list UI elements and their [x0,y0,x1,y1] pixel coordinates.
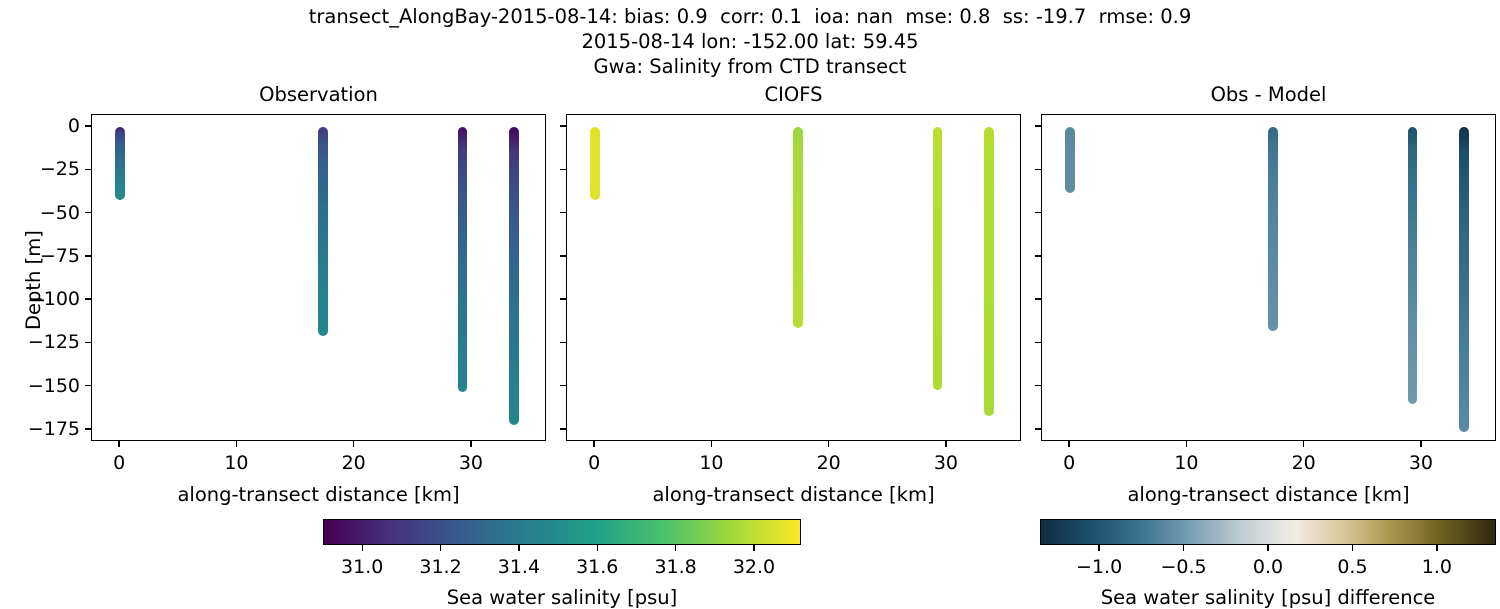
ytick-mark [1035,385,1041,386]
xtick-mark [945,441,946,447]
suptitle-line-1: transect_AlongBay-2015-08-14: bias: 0.9 … [0,4,1500,29]
xtick-label: 20 [1292,452,1316,474]
ytick-mark [85,125,91,126]
colorbar-tick-mark [1183,545,1184,551]
colorbar-tick-label: −0.5 [1160,556,1206,578]
xtick-mark [1303,441,1304,447]
ytick-mark [1035,255,1041,256]
xtick-label: 20 [342,452,366,474]
panel-observation: Observation along-transect distance [km]… [91,114,546,441]
suptitle-line-3: Gwa: Salinity from CTD transect [0,54,1500,79]
colorbar-tick-mark [440,545,441,551]
ytick-mark [85,428,91,429]
xtick-mark [470,441,471,447]
xlabel-ciofs: along-transect distance [km] [566,483,1021,506]
xtick-label: 10 [1174,452,1198,474]
colorbar-tick-label: −1.0 [1076,556,1122,578]
ytick-label: −75 [40,245,80,267]
ytick-mark [85,298,91,299]
ytick-label: −150 [28,375,80,397]
ytick-mark [85,169,91,170]
ytick-mark [560,385,566,386]
colorbar-tick-label: 31.0 [341,556,383,578]
colorbar-salinity: Sea water salinity [psu] 31.031.231.431.… [323,519,801,545]
colorbar-tick-mark [1098,545,1099,551]
ytick-mark [1035,428,1041,429]
ytick-mark [85,255,91,256]
xtick-mark [118,441,119,447]
xtick-label: 10 [699,452,723,474]
cast-profile [1268,127,1278,331]
cast-profile [590,127,600,200]
xtick-label: 20 [817,452,841,474]
axes-observation [91,114,546,441]
panel-title-ciofs: CIOFS [566,84,1021,106]
suptitle-line-2: 2015-08-14 lon: -152.00 lat: 59.45 [0,29,1500,54]
xtick-label: 30 [459,452,483,474]
cast-profile [458,127,468,392]
colorbar-tick-mark [1267,545,1268,551]
xtick-label: 0 [113,452,125,474]
colorbar-tick-mark [1436,545,1437,551]
ytick-label: 0 [68,115,80,137]
xtick-mark [828,441,829,447]
colorbar-tick-label: 32.0 [733,556,775,578]
colorbar-tick-label: 31.6 [576,556,618,578]
cast-profile [984,127,994,416]
xtick-label: 30 [934,452,958,474]
colorbar-salinity-difference-label: Sea water salinity [psu] difference [1101,586,1436,609]
ytick-mark [85,385,91,386]
ytick-mark [1035,342,1041,343]
ytick-mark [560,169,566,170]
xtick-mark [1068,441,1069,447]
colorbar-tick-mark [518,545,519,551]
xtick-mark [711,441,712,447]
xtick-mark [1420,441,1421,447]
colorbar-tick-label: 31.4 [498,556,540,578]
colorbar-tick-label: 31.2 [419,556,461,578]
xtick-mark [593,441,594,447]
ytick-label: −175 [28,418,80,440]
ylabel-depth: Depth [m] [22,230,45,330]
figure-canvas: transect_AlongBay-2015-08-14: bias: 0.9 … [0,0,1500,600]
ytick-mark [560,428,566,429]
xtick-mark [1186,441,1187,447]
ytick-mark [1035,212,1041,213]
colorbar-tick-label: 0.5 [1337,556,1367,578]
ytick-mark [1035,298,1041,299]
colorbar-tick-label: 1.0 [1422,556,1452,578]
axes-ciofs [566,114,1021,441]
ytick-mark [1035,125,1041,126]
ytick-mark [85,212,91,213]
colorbar-tick-label: 0.0 [1253,556,1283,578]
ytick-mark [560,298,566,299]
xtick-label: 30 [1409,452,1433,474]
ytick-mark [560,125,566,126]
cast-profile [318,127,328,336]
ytick-mark [1035,169,1041,170]
xtick-mark [236,441,237,447]
xtick-label: 10 [224,452,248,474]
cast-profile [1459,127,1469,432]
ytick-mark [85,342,91,343]
xtick-label: 0 [588,452,600,474]
cast-profile [1408,127,1418,404]
ytick-label: −50 [40,202,80,224]
panel-obs-minus-model: Obs - Model along-transect distance [km]… [1041,114,1496,441]
colorbar-salinity-label: Sea water salinity [psu] [447,586,678,609]
cast-profile [1065,127,1075,193]
ytick-label: −25 [40,158,80,180]
panel-title-observation: Observation [91,84,546,106]
cast-profile [115,127,125,200]
xlabel-observation: along-transect distance [km] [91,483,546,506]
colorbar-tick-mark [675,545,676,551]
xtick-label: 0 [1063,452,1075,474]
xtick-mark [353,441,354,447]
ytick-mark [560,342,566,343]
panel-ciofs: CIOFS along-transect distance [km] 01020… [566,114,1021,441]
figure-suptitle: transect_AlongBay-2015-08-14: bias: 0.9 … [0,4,1500,79]
cast-profile [509,127,519,425]
panel-title-obs-minus-model: Obs - Model [1041,84,1496,106]
axes-obs-minus-model [1041,114,1496,441]
colorbar-salinity-difference-gradient [1040,519,1496,545]
colorbar-tick-label: 31.8 [654,556,696,578]
colorbar-salinity-gradient [323,519,801,545]
ytick-mark [560,212,566,213]
cast-profile [933,127,943,390]
colorbar-tick-mark [362,545,363,551]
colorbar-tick-mark [1352,545,1353,551]
colorbar-salinity-difference: Sea water salinity [psu] difference −1.0… [1040,519,1496,545]
ytick-label: −125 [28,331,80,353]
colorbar-tick-mark [753,545,754,551]
xlabel-obs-minus-model: along-transect distance [km] [1041,483,1496,506]
colorbar-tick-mark [597,545,598,551]
ytick-mark [560,255,566,256]
cast-profile [793,127,803,328]
